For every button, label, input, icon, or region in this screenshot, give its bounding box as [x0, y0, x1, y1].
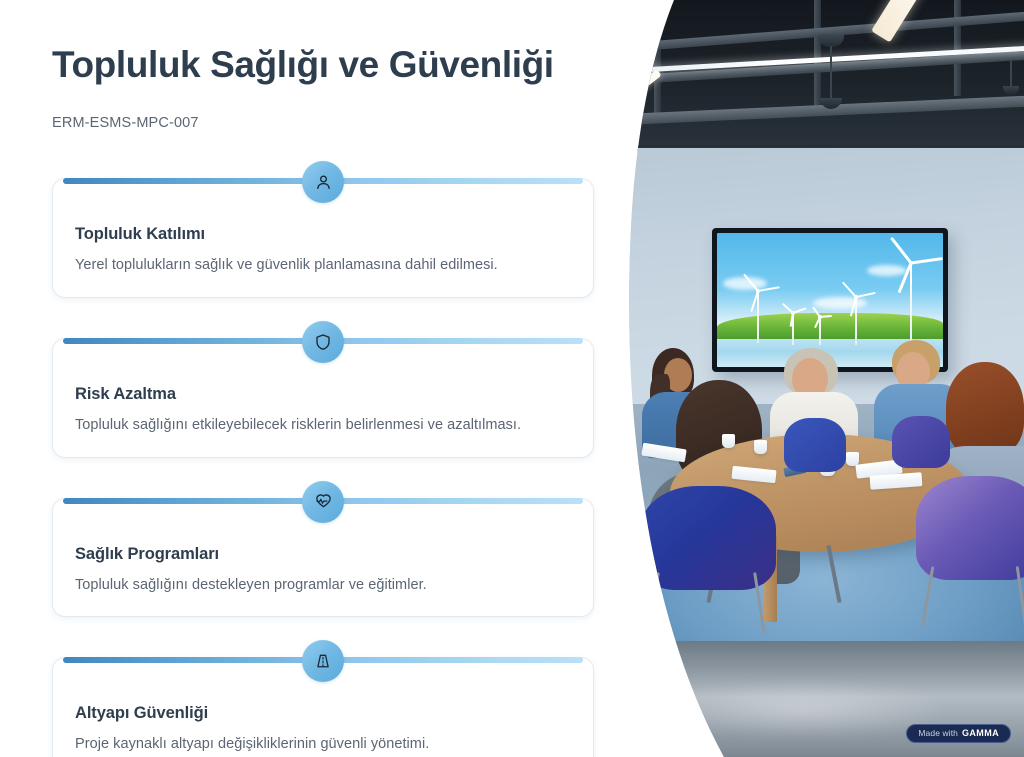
- card-title: Altyapı Güvenliği: [75, 704, 571, 723]
- road-bridge-icon: [302, 640, 344, 682]
- list-item[interactable]: Risk Azaltma Topluluk sağlığını etkileye…: [52, 321, 594, 458]
- ceiling: [624, 0, 1024, 152]
- pendant-light: [820, 46, 842, 110]
- page-title: Topluluk Sağlığı ve Güvenliği: [52, 44, 596, 85]
- list-item[interactable]: Sağlık Programları Topluluk sağlığını de…: [52, 481, 594, 618]
- chair: [892, 416, 950, 468]
- chair-leg: [647, 572, 660, 634]
- card-title: Topluluk Katılımı: [75, 225, 571, 244]
- card-title: Risk Azaltma: [75, 385, 571, 404]
- card-description: Yerel toplulukların sağlık ve güvenlik p…: [75, 255, 571, 276]
- heart-pulse-icon: [302, 481, 344, 523]
- list-item[interactable]: Altyapı Güvenliği Proje kaynaklı altyapı…: [52, 640, 594, 757]
- chair: [784, 418, 846, 472]
- coffee-cup: [754, 440, 767, 454]
- made-with-gamma-badge[interactable]: Made with GAMMA: [906, 724, 1011, 743]
- card-description: Topluluk sağlığını destekleyen programla…: [75, 575, 571, 596]
- card-list: Topluluk Katılımı Yerel toplulukların sa…: [52, 161, 596, 757]
- slide-root: Topluluk Sağlığı ve Güvenliği ERM-ESMS-M…: [0, 0, 1024, 757]
- wind-turbine: [845, 295, 867, 345]
- content-panel: Topluluk Sağlığı ve Güvenliği ERM-ESMS-M…: [0, 0, 640, 757]
- pendant-light: [1002, 60, 1020, 102]
- meeting-room-photo: [624, 0, 1024, 757]
- document-code: ERM-ESMS-MPC-007: [52, 115, 596, 131]
- chair: [916, 476, 1024, 580]
- wind-turbine: [893, 261, 929, 345]
- list-item[interactable]: Topluluk Katılımı Yerel toplulukların sa…: [52, 161, 594, 298]
- card-description: Topluluk sağlığını etkileyebilecek riskl…: [75, 415, 571, 436]
- hero-image-panel: Made with GAMMA: [624, 0, 1024, 757]
- shield-icon: [302, 321, 344, 363]
- wind-turbine: [813, 315, 827, 345]
- badge-brand-label: GAMMA: [962, 728, 999, 738]
- coffee-cup: [722, 434, 735, 448]
- wind-turbine: [785, 311, 801, 345]
- ceiling-post: [654, 0, 661, 120]
- wind-turbine: [745, 289, 771, 343]
- card-description: Proje kaynaklı altyapı değişikliklerinin…: [75, 734, 571, 755]
- person-icon: [302, 161, 344, 203]
- card-title: Sağlık Programları: [75, 545, 571, 564]
- badge-prefix-label: Made with: [918, 728, 958, 738]
- ceiling-post: [954, 0, 961, 96]
